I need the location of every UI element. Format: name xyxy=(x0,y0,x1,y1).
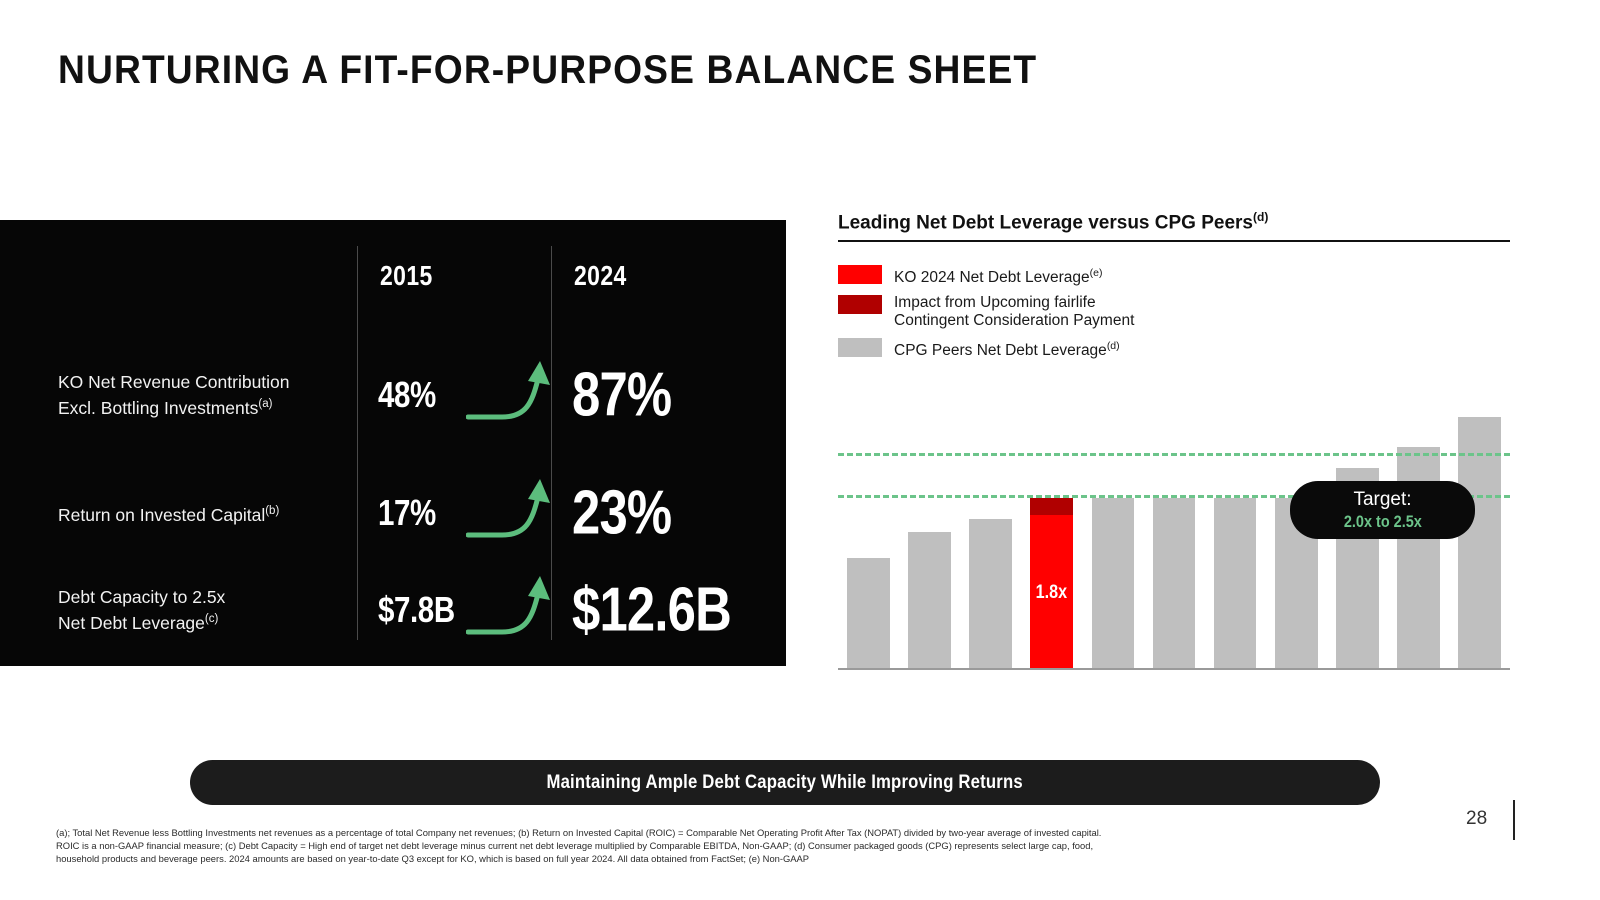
growth-arrow-icon xyxy=(466,355,566,435)
chart-target-line xyxy=(838,453,1510,456)
chart-bar-segment-peer xyxy=(1214,498,1257,668)
chart-bar xyxy=(908,532,951,668)
footnote-line-3: household products and beverage peers. 2… xyxy=(56,852,1406,865)
chart-bar xyxy=(1153,498,1196,668)
metric-label-line2: Net Debt Leverage xyxy=(58,613,205,633)
legend-footnote-mark: (d) xyxy=(1107,340,1120,352)
metric-label: Return on Invested Capital(b) xyxy=(58,500,358,526)
summary-banner-text: Maintaining Ample Debt Capacity While Im… xyxy=(547,772,1023,794)
metric-old-value: 17% xyxy=(378,492,436,534)
target-callout-line2: 2.0x to 2.5x xyxy=(1344,511,1422,532)
metric-old-value: $7.8B xyxy=(378,589,455,631)
target-callout: Target: 2.0x to 2.5x xyxy=(1290,481,1475,539)
legend-footnote-mark: (e) xyxy=(1090,267,1103,279)
growth-arrow-icon xyxy=(466,570,566,650)
metric-new-value: $12.6B xyxy=(572,575,731,646)
chart-plot-area: 1.8x Target: 2.0x to 2.5x xyxy=(838,396,1510,670)
chart-title-footnote-mark: (d) xyxy=(1253,210,1268,224)
chart-bar-segment-peer xyxy=(847,558,890,669)
page-number: 28 xyxy=(1466,808,1487,830)
page-title: NURTURING A FIT-FOR-PURPOSE BALANCE SHEE… xyxy=(58,48,1037,93)
legend-item-cpg-peers[interactable]: CPG Peers Net Debt Leverage(d) xyxy=(838,337,1134,360)
chart-title: Leading Net Debt Leverage versus CPG Pee… xyxy=(838,210,1268,234)
metric-label-line1: KO Net Revenue Contribution xyxy=(58,372,290,392)
chart-bar xyxy=(969,519,1012,668)
legend-item-ko[interactable]: KO 2024 Net Debt Leverage(e) xyxy=(838,264,1134,287)
legend-item-fairlife[interactable]: Impact from Upcoming fairlifeContingent … xyxy=(838,294,1134,330)
chart-bar xyxy=(1214,498,1257,668)
page-number-rule xyxy=(1513,800,1515,840)
metric-footnote-mark: (a) xyxy=(258,398,272,410)
chart-bar-value-label: 1.8x xyxy=(1034,582,1070,604)
metric-label-line1: Debt Capacity to 2.5x xyxy=(58,587,225,607)
metric-row: Debt Capacity to 2.5x Net Debt Leverage(… xyxy=(0,550,786,670)
leverage-chart: Leading Net Debt Leverage versus CPG Pee… xyxy=(838,210,1510,670)
metric-label-line2: Excl. Bottling Investments xyxy=(58,398,258,418)
chart-title-text: Leading Net Debt Leverage versus CPG Pee… xyxy=(838,212,1253,233)
metric-new-value: 87% xyxy=(572,360,671,431)
footnotes: (a); Total Net Revenue less Bottling Inv… xyxy=(56,826,1406,866)
column-header-new-year: 2024 xyxy=(574,260,627,292)
chart-bar-segment-peer xyxy=(1153,498,1196,668)
legend-label: KO 2024 Net Debt Leverage(e) xyxy=(894,264,1102,287)
footnote-line-2: ROIC is a non-GAAP financial measure; (c… xyxy=(56,839,1406,852)
legend-swatch-icon xyxy=(838,295,882,314)
chart-title-rule xyxy=(838,240,1510,242)
metrics-panel: 2015 2024 KO Net Revenue Contribution Ex… xyxy=(0,220,786,666)
summary-banner: Maintaining Ample Debt Capacity While Im… xyxy=(190,760,1380,805)
chart-baseline-axis xyxy=(838,668,1510,670)
legend-label-text: CPG Peers Net Debt Leverage xyxy=(894,342,1107,359)
legend-label-line1: Impact from Upcoming fairlife xyxy=(894,294,1096,311)
column-header-old-year: 2015 xyxy=(380,260,433,292)
legend-label-text: KO 2024 Net Debt Leverage xyxy=(894,269,1090,286)
legend-label: CPG Peers Net Debt Leverage(d) xyxy=(894,337,1120,360)
chart-bar xyxy=(1092,498,1135,668)
metric-old-value: 48% xyxy=(378,374,436,416)
footnote-line-1: (a); Total Net Revenue less Bottling Inv… xyxy=(56,826,1406,839)
growth-arrow-icon xyxy=(466,473,566,553)
legend-swatch-icon xyxy=(838,338,882,357)
legend-swatch-icon xyxy=(838,265,882,284)
chart-bar xyxy=(847,558,890,669)
chart-bar: 1.8x xyxy=(1030,498,1073,668)
metric-row: KO Net Revenue Contribution Excl. Bottli… xyxy=(0,335,786,455)
metric-footnote-mark: (b) xyxy=(265,505,279,517)
chart-bar-segment-peer xyxy=(969,519,1012,668)
chart-legend: KO 2024 Net Debt Leverage(e) Impact from… xyxy=(838,264,1134,367)
metric-label-line1: Return on Invested Capital xyxy=(58,505,265,525)
chart-bar-segment-peer xyxy=(1092,498,1135,668)
metric-label: Debt Capacity to 2.5x Net Debt Leverage(… xyxy=(58,586,358,634)
metric-footnote-mark: (c) xyxy=(205,613,218,625)
metric-label: KO Net Revenue Contribution Excl. Bottli… xyxy=(58,371,358,419)
legend-label-line2: Contingent Consideration Payment xyxy=(894,312,1134,329)
metric-new-value: 23% xyxy=(572,478,671,549)
chart-bar-segment-peer xyxy=(908,532,951,668)
target-callout-line1: Target: xyxy=(1353,488,1411,511)
legend-label: Impact from Upcoming fairlifeContingent … xyxy=(894,294,1134,330)
chart-bar-segment-fairlife-impact xyxy=(1030,498,1073,515)
